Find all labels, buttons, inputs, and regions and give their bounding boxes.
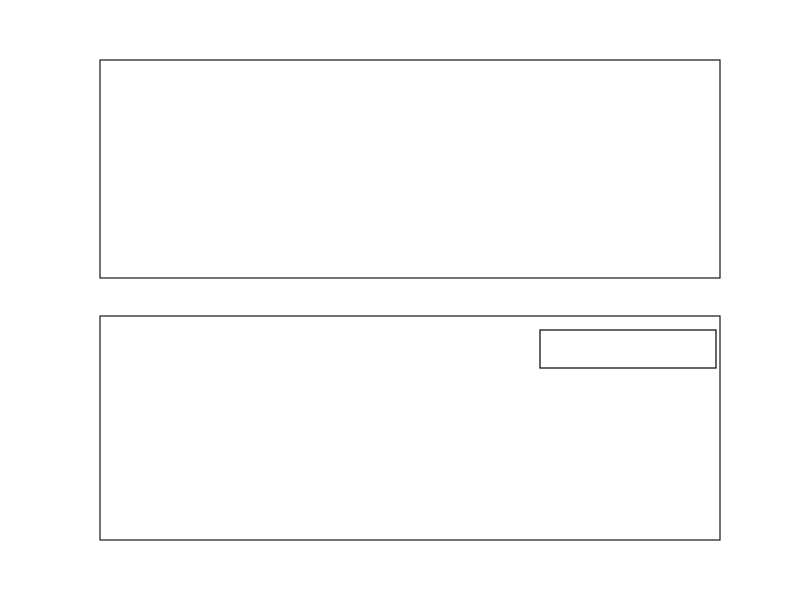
top-histogram-panel (100, 60, 720, 278)
figure-canvas (0, 0, 800, 600)
bottom-cumulative-panel (0, 0, 720, 540)
top-axes-frame (100, 60, 720, 278)
chart-svg (0, 0, 800, 600)
legend[interactable] (540, 330, 716, 368)
legend-frame (540, 330, 716, 368)
